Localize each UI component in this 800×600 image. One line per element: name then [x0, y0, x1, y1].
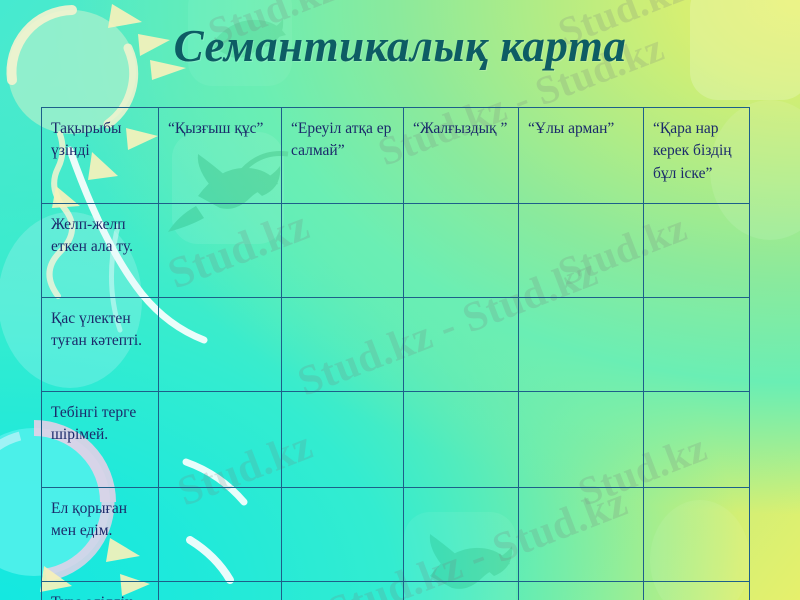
table-row: Тура әділдік биде жоқ.	[42, 582, 750, 600]
table-header-cell-5: “Қара нар керек біздің бұл іске”	[644, 108, 750, 204]
row-label-cell: Тура әділдік биде жоқ.	[42, 582, 159, 600]
row-label-cell: Тебінгі терге шірімей.	[42, 392, 159, 488]
table-cell[interactable]	[644, 392, 750, 488]
table-cell[interactable]	[404, 582, 519, 600]
table-cell[interactable]	[282, 204, 404, 298]
table-cell[interactable]	[644, 488, 750, 582]
table-cell[interactable]	[404, 392, 519, 488]
table-cell[interactable]	[644, 582, 750, 600]
table-header-row: Тақырыбы үзінді “Қызғыш құс” “Ереуіл атқ…	[42, 108, 750, 204]
table-row: Ел қорыған мен едім.	[42, 488, 750, 582]
table-cell[interactable]	[159, 392, 282, 488]
table-cell[interactable]	[159, 582, 282, 600]
table-header-cell-4: “Ұлы арман”	[519, 108, 644, 204]
table-header-cell-1: “Қызғыш құс”	[159, 108, 282, 204]
table-row: Қас үлектен туған кәтепті.	[42, 298, 750, 392]
table-cell[interactable]	[519, 488, 644, 582]
table-cell[interactable]	[404, 204, 519, 298]
row-label-cell: Ел қорыған мен едім.	[42, 488, 159, 582]
table-cell[interactable]	[159, 204, 282, 298]
table-cell[interactable]	[282, 298, 404, 392]
table-row: Тебінгі терге шірімей.	[42, 392, 750, 488]
table-cell[interactable]	[404, 298, 519, 392]
slide-canvas: Stud.kzStud.kzStud.kz - Stud.kzStud.kzSt…	[0, 0, 800, 600]
table-header-cell-3: “Жалғыздық ”	[404, 108, 519, 204]
table-cell[interactable]	[519, 392, 644, 488]
table-cell[interactable]	[519, 582, 644, 600]
row-label-cell: Қас үлектен туған кәтепті.	[42, 298, 159, 392]
table-cell[interactable]	[519, 298, 644, 392]
table-cell[interactable]	[159, 298, 282, 392]
table-header-cell-2: “Ереуіл атқа ер салмай”	[282, 108, 404, 204]
table-cell[interactable]	[282, 392, 404, 488]
semantic-map-table: Тақырыбы үзінді “Қызғыш құс” “Ереуіл атқ…	[41, 107, 750, 600]
page-title: Семантикалық карта	[0, 22, 800, 72]
table-header-cell-0: Тақырыбы үзінді	[42, 108, 159, 204]
table-cell[interactable]	[644, 298, 750, 392]
table-cell[interactable]	[519, 204, 644, 298]
table-row: Желп-желп еткен ала ту.	[42, 204, 750, 298]
table-cell[interactable]	[282, 582, 404, 600]
table-cell[interactable]	[644, 204, 750, 298]
table-cell[interactable]	[282, 488, 404, 582]
table-cell[interactable]	[404, 488, 519, 582]
table-cell[interactable]	[159, 488, 282, 582]
row-label-cell: Желп-желп еткен ала ту.	[42, 204, 159, 298]
